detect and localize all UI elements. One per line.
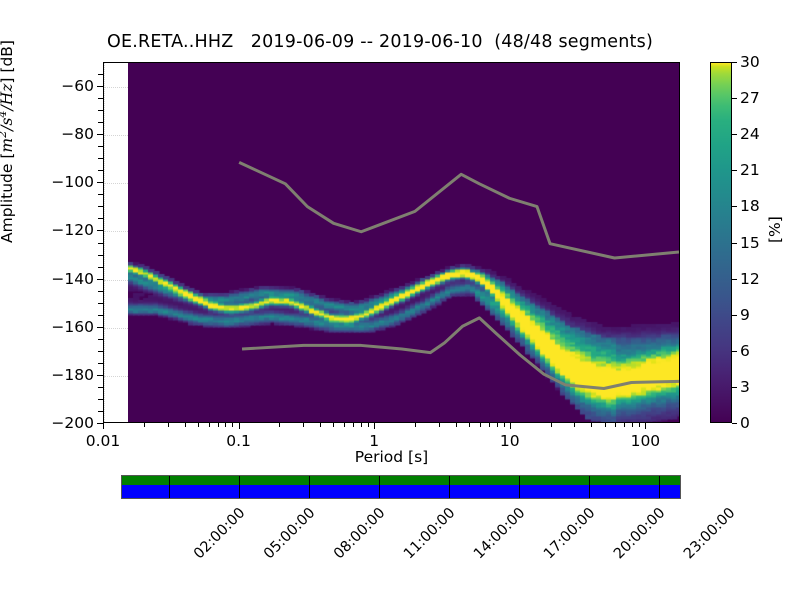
coverage-tick-mark [589,476,590,498]
x-minor-tick [605,423,606,427]
y-minor-tick [98,351,103,352]
coverage-time-label: 05:00:00 [261,505,318,562]
colorbar-tick-mark [732,315,737,316]
coverage-time-label: 02:00:00 [191,505,248,562]
colorbar-tick-label: 15 [740,234,760,252]
x-minor-tick [469,423,470,427]
coverage-time-label: 23:00:00 [681,505,738,562]
y-tick-label: −140 [51,270,94,288]
coverage-time-label: 17:00:00 [541,505,598,562]
coverage-tick-mark [519,476,520,498]
x-minor-tick [320,423,321,427]
x-minor-tick [591,423,592,427]
y-minor-tick [98,411,103,412]
y-minor-tick [98,339,103,340]
ppsd-plot-axes[interactable] [103,62,680,423]
y-axis-title: Amplitude [m2/s4/Hz] [dB] [0,40,16,243]
colorbar-tick-mark [732,62,737,63]
x-minor-tick [456,423,457,427]
colorbar-tick-mark [732,170,737,171]
coverage-time-label: 08:00:00 [331,505,388,562]
y-axis-title-math-m: m [0,138,16,153]
ppsd-density-canvas [128,63,679,422]
y-minor-tick [98,303,103,304]
y-minor-tick [98,255,103,256]
y-tick-label: −60 [61,77,94,95]
y-minor-tick [98,170,103,171]
y-minor-tick [98,158,103,159]
x-minor-tick [439,423,440,427]
y-tick-mark [97,134,103,135]
data-coverage-bar[interactable] [121,475,681,499]
ppsd-histogram-raster [128,63,679,422]
y-axis-title-exp-4: 4 [0,110,9,117]
page-title: OE.RETA..HHZ 2019-06-09 -- 2019-06-10 (4… [0,32,760,52]
y-minor-tick [98,363,103,364]
y-minor-tick [98,74,103,75]
y-minor-tick [98,399,103,400]
colorbar-tick-label: 24 [740,125,760,143]
y-minor-tick [98,267,103,268]
colorbar-tick-label: 12 [740,270,760,288]
x-minor-tick [218,423,219,427]
x-minor-tick [225,423,226,427]
colorbar-tick-label: 30 [740,53,760,71]
y-tick-mark [97,279,103,280]
coverage-tick-mark [309,476,310,498]
x-minor-tick [333,423,334,427]
y-minor-tick [98,387,103,388]
y-tick-mark [97,327,103,328]
colorbar-tick-mark [732,387,737,388]
colorbar-tick-label: 0 [740,414,750,432]
x-minor-tick [209,423,210,427]
x-minor-tick [489,423,490,427]
y-minor-tick [98,206,103,207]
x-minor-tick [353,423,354,427]
coverage-time-label: 14:00:00 [471,505,528,562]
x-tick-mark [374,423,375,429]
x-minor-tick [344,423,345,427]
y-tick-label: −160 [51,318,94,336]
colorbar-tick-mark [732,279,737,280]
x-minor-tick [198,423,199,427]
colorbar-tick-mark [732,243,737,244]
y-minor-tick [98,243,103,244]
y-tick-label: −80 [61,125,94,143]
coverage-band-green [122,476,680,485]
colorbar-tick-mark [732,351,737,352]
x-minor-tick [361,423,362,427]
y-tick-mark [97,375,103,376]
x-minor-tick [144,423,145,427]
coverage-time-label: 11:00:00 [401,505,458,562]
x-minor-tick [615,423,616,427]
x-minor-tick [480,423,481,427]
y-tick-label: −120 [51,221,94,239]
y-tick-label: −100 [51,173,94,191]
colorbar-tick-mark [732,134,737,135]
y-axis-title-exp-2: 2 [0,131,9,138]
colorbar-tick-mark [732,206,737,207]
colorbar-tick-label: 27 [740,89,760,107]
x-minor-tick [168,423,169,427]
x-minor-tick [415,423,416,427]
colorbar-tick-label: 3 [740,378,750,396]
coverage-tick-mark [169,476,170,498]
colorbar[interactable] [710,62,732,423]
colorbar-tick-mark [732,98,737,99]
y-tick-label: −180 [51,366,94,384]
colorbar-tick-label: 18 [740,197,760,215]
x-tick-mark [103,423,104,429]
y-minor-tick [98,110,103,111]
colorbar-tick-label: 6 [740,342,750,360]
colorbar-tick-mark [732,423,737,424]
x-minor-tick [279,423,280,427]
y-minor-tick [98,315,103,316]
coverage-tick-mark [379,476,380,498]
coverage-band-blue [122,485,680,498]
y-tick-mark [97,230,103,231]
coverage-tick-mark [449,476,450,498]
y-minor-tick [98,98,103,99]
x-tick-mark [645,423,646,429]
coverage-tick-mark [239,476,240,498]
x-minor-tick [504,423,505,427]
y-minor-tick [98,194,103,195]
y-minor-tick [98,122,103,123]
x-axis-title: Period [s] [103,448,680,466]
y-axis-title-suffix: ] [dB] [0,40,16,84]
y-tick-label: −200 [51,414,94,432]
colorbar-tick-label: 9 [740,306,750,324]
coverage-tick-mark [659,476,660,498]
x-minor-tick [232,423,233,427]
x-minor-tick [368,423,369,427]
y-tick-mark [97,182,103,183]
x-minor-tick [639,423,640,427]
colorbar-tick-label: 21 [740,161,760,179]
y-tick-mark [97,86,103,87]
y-minor-tick [98,146,103,147]
x-minor-tick [497,423,498,427]
x-minor-tick [574,423,575,427]
y-axis-title-math-s: /s [0,118,16,131]
coverage-time-label: 20:00:00 [611,505,668,562]
y-axis-title-math-hz: /Hz [0,84,16,111]
x-minor-tick [185,423,186,427]
y-minor-tick [98,218,103,219]
colorbar-title: [%] [766,216,784,243]
y-minor-tick [98,291,103,292]
x-tick-mark [239,423,240,429]
x-minor-tick [303,423,304,427]
x-minor-tick [551,423,552,427]
x-minor-tick [632,423,633,427]
y-axis-title-prefix: Amplitude [ [0,153,16,243]
x-tick-mark [510,423,511,429]
x-minor-tick [624,423,625,427]
